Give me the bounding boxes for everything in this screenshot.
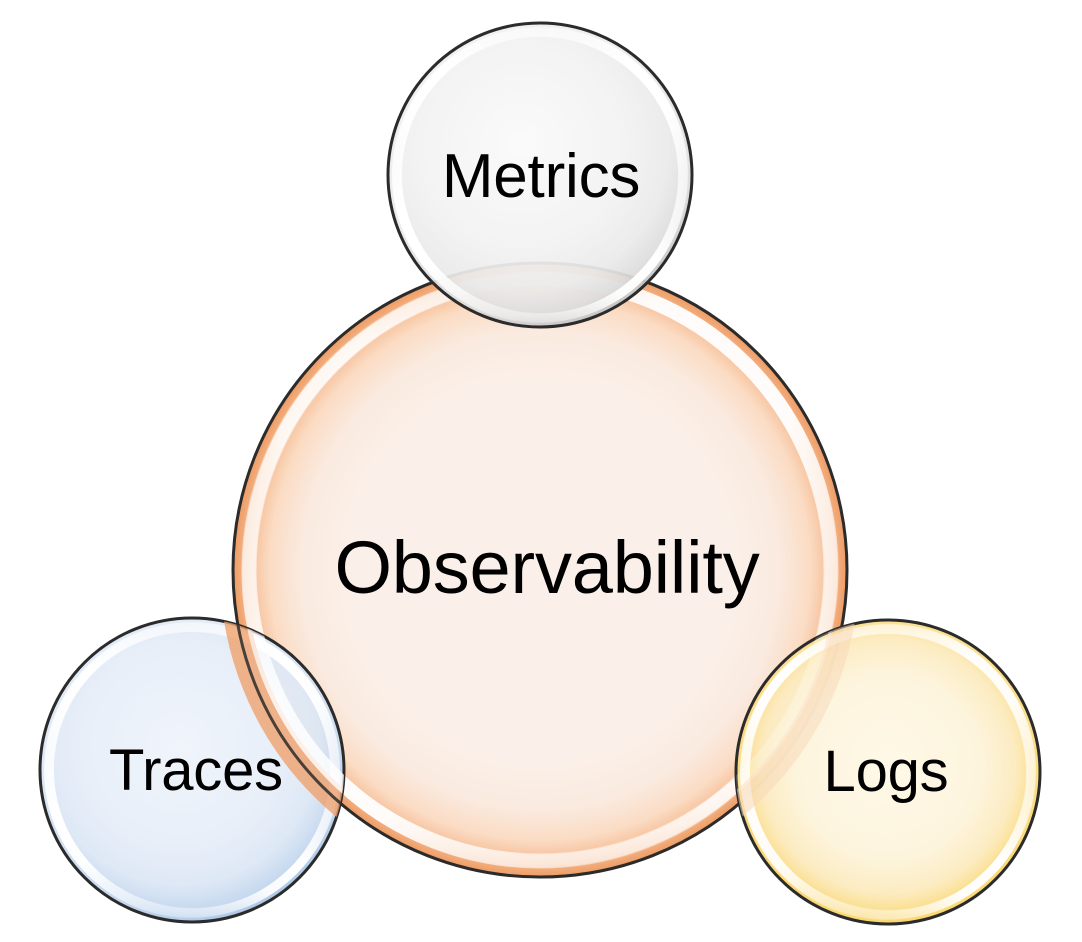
node-metrics[interactable] [388,23,692,327]
observability-diagram: Observability Metrics Traces Logs [0,0,1082,942]
diagram-svg [0,0,1082,942]
metrics-circle[interactable] [388,23,692,327]
